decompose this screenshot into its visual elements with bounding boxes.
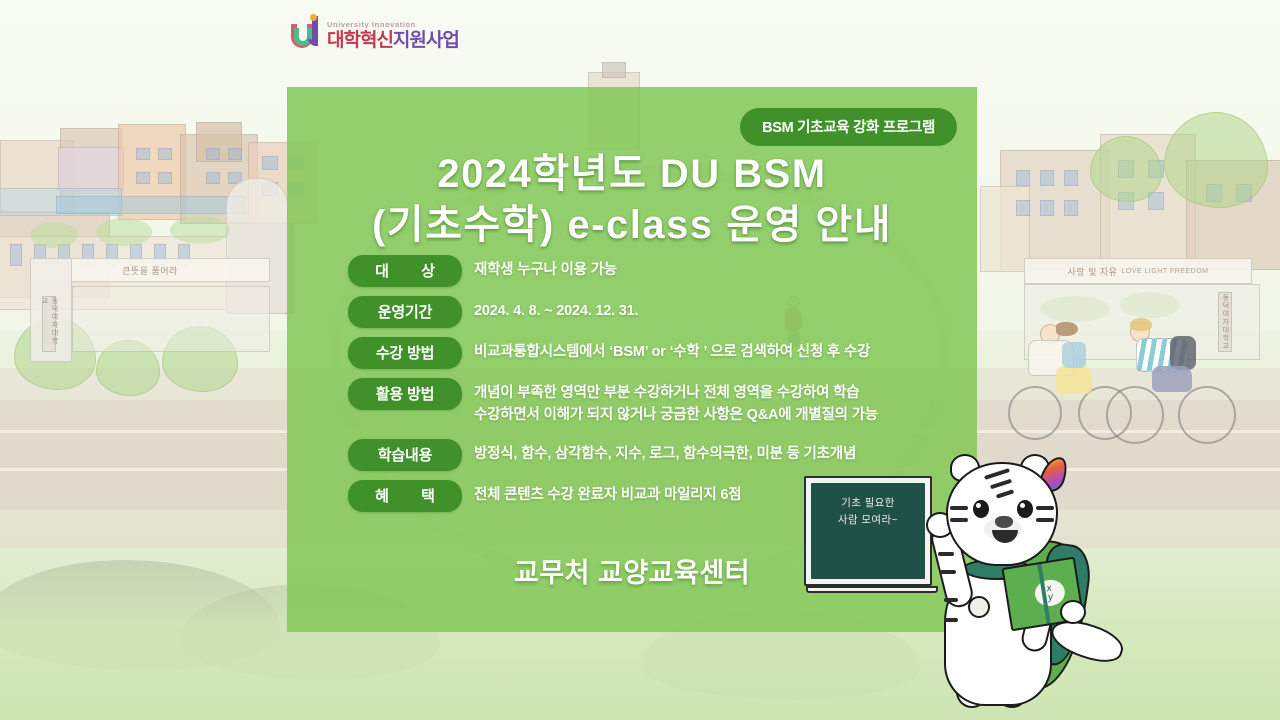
building-block bbox=[58, 147, 124, 191]
value-line: 개념이 부족한 영역만 부분 수강하거나 전체 영역을 수강하여 학습 bbox=[474, 382, 878, 404]
info-label-usage: 활용 방법 bbox=[348, 378, 462, 410]
gate-left-wall bbox=[72, 286, 270, 352]
university-innovation-logo: University Innovation 대학혁신지원사업 bbox=[291, 16, 459, 50]
info-label-curriculum: 학습내용 bbox=[348, 439, 462, 471]
gate-left-text: 큰뜻을 품어라 bbox=[122, 264, 178, 277]
bush bbox=[170, 216, 230, 244]
info-value-target: 재학생 누구나 이용 가능 bbox=[474, 255, 617, 281]
logo-korean-part2: 지원사업 bbox=[393, 30, 459, 51]
window bbox=[1016, 200, 1030, 216]
title-line-2: (기초수학) e-class 운영 안내 bbox=[287, 200, 977, 251]
mascot-body-stripe bbox=[944, 598, 958, 602]
logo-korean-text: 대학혁신지원사업 bbox=[327, 31, 459, 50]
info-label-how-to-enroll: 수강 방법 bbox=[348, 337, 462, 369]
mascot-cheek-stripe bbox=[1036, 506, 1054, 510]
window bbox=[1016, 170, 1030, 186]
mascot-eye-highlight-right bbox=[1020, 503, 1025, 508]
info-row: 수강 방법 비교과통합시스템에서 ‘BSM’ or ‘수학 ’ 으로 검색하여 … bbox=[348, 337, 959, 369]
bush bbox=[96, 218, 152, 246]
info-value-benefit: 전체 콘텐츠 수강 완료자 비교과 마일리지 6점 bbox=[474, 480, 741, 506]
value-line: 2024. 4. 8. ~ 2024. 12. 31. bbox=[474, 300, 638, 322]
info-value-how-to-enroll: 비교과통합시스템에서 ‘BSM’ or ‘수학 ’ 으로 검색하여 신청 후 수… bbox=[474, 337, 870, 363]
logo-korean-part1: 대학혁신 bbox=[327, 30, 393, 51]
mascot-eye-right bbox=[1017, 500, 1033, 518]
info-row: 운영기간 2024. 4. 8. ~ 2024. 12. 31. bbox=[348, 296, 959, 328]
program-badge: BSM 기초교육 강화 프로그램 bbox=[740, 108, 957, 146]
gate-right-text-en: LOVE LIGHT FREEDOM bbox=[1121, 268, 1208, 275]
window bbox=[206, 148, 220, 160]
info-row: 대 상 재학생 누구나 이용 가능 bbox=[348, 255, 959, 287]
gate-right-text-ko: 사랑 빛 자유 bbox=[1068, 265, 1118, 278]
window bbox=[228, 148, 242, 160]
info-value-usage: 개념이 부족한 영역만 부분 수강하거나 전체 영역을 수강하여 학습 수강하면… bbox=[474, 378, 878, 426]
window bbox=[158, 172, 172, 184]
fraction-denominator: y bbox=[1047, 593, 1053, 603]
window bbox=[1064, 170, 1078, 186]
info-label-target: 대 상 bbox=[348, 255, 462, 287]
info-row: 활용 방법 개념이 부족한 영역만 부분 수강하거나 전체 영역을 수강하여 학… bbox=[348, 378, 959, 426]
logo-english-text: University Innovation bbox=[327, 21, 459, 29]
blackboard-line-1: 기초 필요한 bbox=[841, 495, 895, 512]
window bbox=[262, 156, 278, 170]
mascot-eye-left bbox=[973, 500, 989, 518]
value-line: 전체 콘텐츠 수강 완료자 비교과 마일리지 6점 bbox=[474, 484, 741, 506]
mascot-holding-paw bbox=[1060, 600, 1086, 624]
mascot-arm-stripe bbox=[940, 570, 956, 574]
info-row: 학습내용 방정식, 함수, 삼각함수, 지수, 로그, 함수의극한, 미분 등 … bbox=[348, 439, 959, 471]
building-block bbox=[602, 62, 626, 78]
mascot-cheek-stripe bbox=[950, 518, 968, 522]
white-tiger-mascot: x y bbox=[900, 448, 1130, 720]
info-label-period: 운영기간 bbox=[348, 296, 462, 328]
window bbox=[136, 148, 150, 160]
poster-canvas: 큰뜻을 품어라 동덕여자대학교 사랑 빛 자유 LOVE LIGHT FREED… bbox=[0, 0, 1280, 720]
mascot-head bbox=[946, 462, 1058, 566]
mascot-body-stripe bbox=[944, 618, 958, 622]
info-label-benefit: 혜 택 bbox=[348, 480, 462, 512]
mascot-cheek-stripe bbox=[1036, 518, 1054, 522]
mascot-arm-stripe bbox=[938, 552, 954, 556]
window bbox=[1040, 200, 1054, 216]
building-block bbox=[56, 196, 246, 214]
window bbox=[1064, 200, 1078, 216]
mascot-cheek-stripe bbox=[950, 506, 968, 510]
value-line: 방정식, 함수, 삼각함수, 지수, 로그, 함수의극한, 미분 등 기초개념 bbox=[474, 443, 856, 465]
book-fraction-badge: x y bbox=[1033, 578, 1067, 608]
value-line: 재학생 누구나 이용 가능 bbox=[474, 259, 617, 281]
window bbox=[206, 172, 220, 184]
info-value-period: 2024. 4. 8. ~ 2024. 12. 31. bbox=[474, 296, 638, 322]
building-block bbox=[980, 186, 1030, 272]
title-line-1: 2024학년도 DU BSM bbox=[437, 152, 826, 196]
info-value-curriculum: 방정식, 함수, 삼각함수, 지수, 로그, 함수의극한, 미분 등 기초개념 bbox=[474, 439, 856, 465]
window bbox=[136, 172, 150, 184]
gate-right-beam: 사랑 빛 자유 LOVE LIGHT FREEDOM bbox=[1024, 258, 1252, 284]
value-line: 수강하면서 이해가 되지 않거나 궁금한 사항은 Q&A에 개별질의 가능 bbox=[474, 404, 878, 426]
window bbox=[158, 148, 172, 160]
mascot-nose bbox=[995, 516, 1013, 528]
gate-left-plate: 동덕여자대학교 bbox=[42, 296, 56, 352]
window bbox=[10, 244, 22, 266]
poster-title: 2024학년도 DU BSM (기초수학) e-class 운영 안내 bbox=[287, 149, 977, 251]
logo-mark-icon bbox=[291, 16, 321, 50]
logo-text-group: University Innovation 대학혁신지원사업 bbox=[327, 21, 459, 51]
window bbox=[1040, 170, 1054, 186]
mascot-eye-highlight-left bbox=[976, 503, 981, 508]
gate-right-plate: 동덕여자대학교 bbox=[1218, 292, 1232, 352]
blackboard-line-2: 사람 모여라~ bbox=[838, 512, 898, 529]
bush bbox=[30, 222, 78, 248]
value-line: 비교과통합시스템에서 ‘BSM’ or ‘수학 ’ 으로 검색하여 신청 후 수… bbox=[474, 341, 870, 363]
